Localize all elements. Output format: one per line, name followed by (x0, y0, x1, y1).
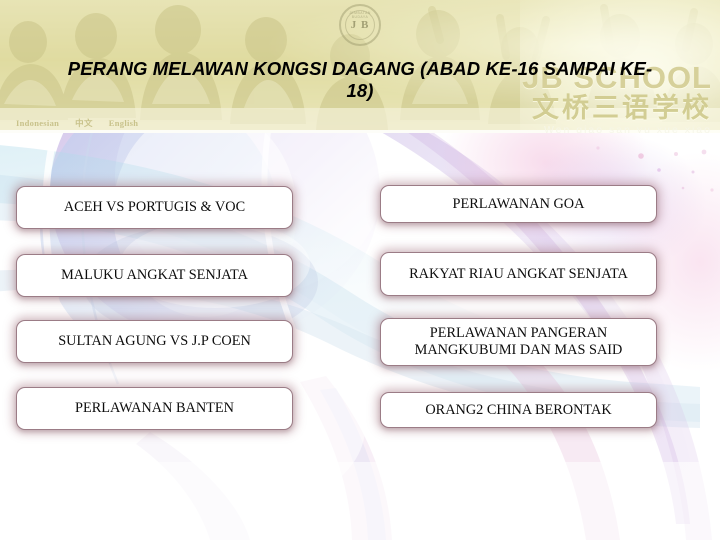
diagram-node-grid: ACEH VS PORTUGIS & VOC MALUKU ANGKAT SEN… (0, 0, 720, 540)
node-label: PERLAWANAN GOA (453, 196, 585, 213)
node-label: PERLAWANAN BANTEN (75, 400, 234, 417)
node-label: ACEH VS PORTUGIS & VOC (64, 199, 245, 216)
node-label: ORANG2 CHINA BERONTAK (425, 402, 611, 419)
node-perlawanan-pangeran-mangkubumi-mas-said[interactable]: PERLAWANAN PANGERAN MANGKUBUMI DAN MAS S… (380, 318, 657, 366)
node-perlawanan-goa[interactable]: PERLAWANAN GOA (380, 185, 657, 223)
node-label: RAKYAT RIAU ANGKAT SENJATA (409, 266, 628, 283)
node-label: PERLAWANAN PANGERAN MANGKUBUMI DAN MAS S… (391, 325, 646, 359)
slide-canvas: JB SCHOOL 文桥三语学校 Wen qiao san yu xue xia… (0, 0, 720, 540)
node-perlawanan-banten[interactable]: PERLAWANAN BANTEN (16, 387, 293, 430)
node-label: MALUKU ANGKAT SENJATA (61, 267, 248, 284)
node-maluku-angkat-senjata[interactable]: MALUKU ANGKAT SENJATA (16, 254, 293, 297)
node-rakyat-riau-angkat-senjata[interactable]: RAKYAT RIAU ANGKAT SENJATA (380, 252, 657, 296)
node-sultan-agung-vs-jp-coen[interactable]: SULTAN AGUNG VS J.P COEN (16, 320, 293, 363)
node-label: SULTAN AGUNG VS J.P COEN (58, 333, 251, 350)
node-aceh-vs-portugis-voc[interactable]: ACEH VS PORTUGIS & VOC (16, 186, 293, 229)
seal-initials: J B (351, 19, 370, 31)
node-orang2-china-berontak[interactable]: ORANG2 CHINA BERONTAK (380, 392, 657, 428)
